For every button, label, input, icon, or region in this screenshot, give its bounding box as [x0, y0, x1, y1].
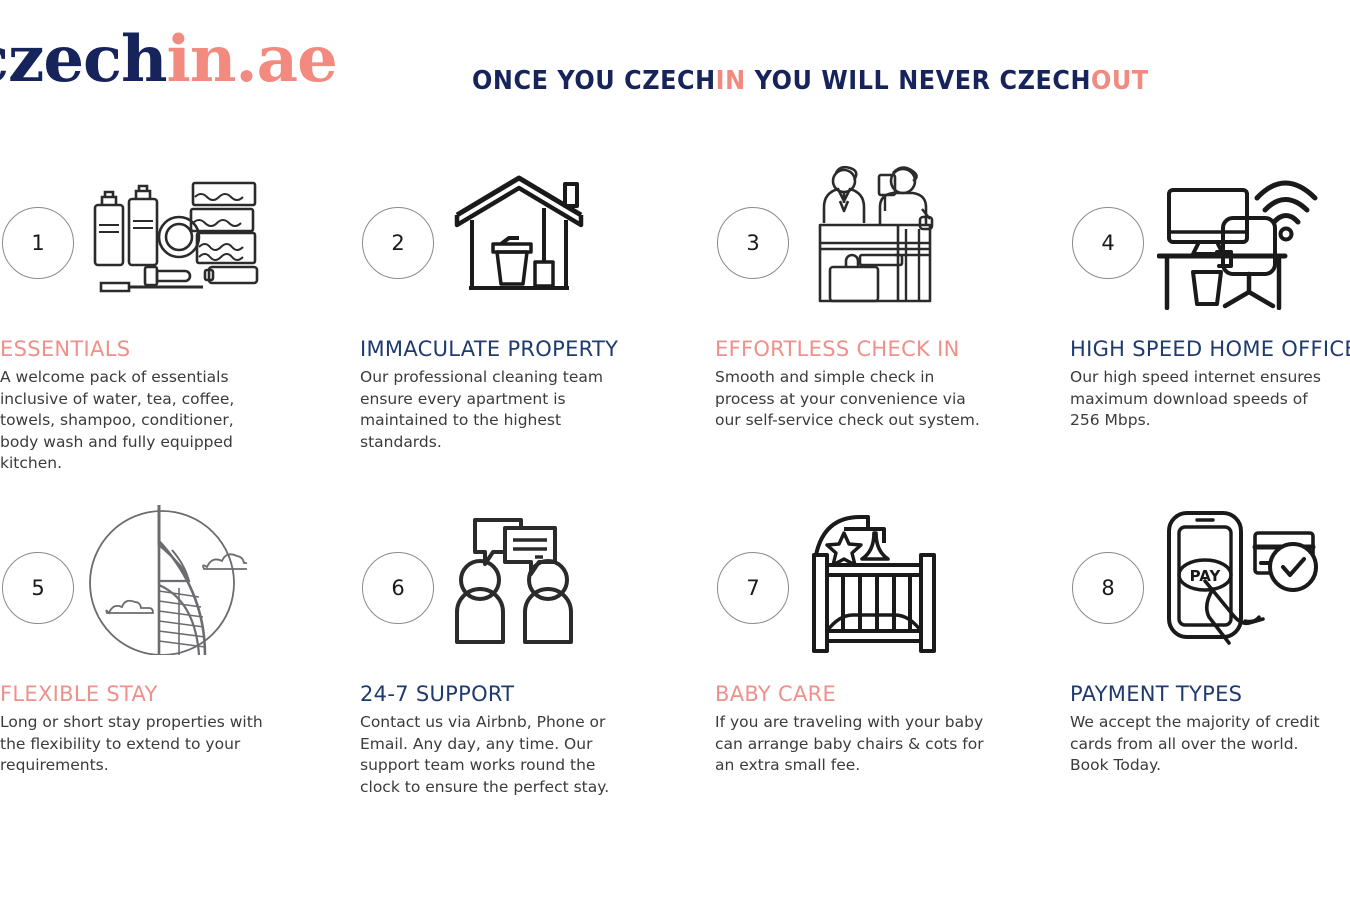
page-header: czechin.ae ONCE YOU CZECHIN YOU WILL NEV…: [0, 0, 1350, 140]
text-block: HIGH SPEED HOME OFFICE Our high speed in…: [1070, 338, 1350, 432]
feature-description: If you are traveling with your baby can …: [715, 712, 1063, 777]
icon-row: 4: [1062, 160, 1350, 310]
text-block: FLEXIBLE STAY Long or short stay propert…: [0, 683, 348, 777]
icon-row: 6: [352, 505, 707, 655]
feature-description: We accept the majority of credit cards f…: [1070, 712, 1350, 777]
tagline: ONCE YOU CZECHIN YOU WILL NEVER CZECHOUT: [472, 68, 1149, 94]
tagline-segment-2: YOU WILL NEVER CZECH: [746, 66, 1091, 96]
feature-card-baby-care: 7: [707, 505, 1062, 655]
feature-description: A welcome pack of essentials inclusive o…: [0, 367, 348, 475]
feature-title: EFFORTLESS CHECK IN: [715, 338, 1063, 361]
tagline-accent-in: IN: [716, 66, 746, 96]
step-number-badge: 5: [2, 552, 74, 624]
home-office-wifi-icon: [1157, 160, 1347, 310]
icon-row: 3: [707, 160, 1062, 310]
text-block: PAYMENT TYPES We accept the majority of …: [1070, 683, 1350, 777]
baby-crib-icon: [802, 505, 992, 655]
feature-description: Our high speed internet ensures maximum …: [1070, 367, 1350, 432]
step-number-badge: 6: [362, 552, 434, 624]
text-block: EFFORTLESS CHECK IN Smooth and simple ch…: [715, 338, 1063, 432]
feature-title: FLEXIBLE STAY: [0, 683, 348, 706]
feature-card-payment-types: 8 PAY: [1062, 505, 1350, 655]
feature-description: Long or short stay properties with the f…: [0, 712, 348, 777]
text-block: ESSENTIALS A welcome pack of essentials …: [0, 338, 348, 475]
feature-description: Contact us via Airbnb, Phone or Email. A…: [360, 712, 708, 798]
feature-card-high-speed-home-office: 4: [1062, 160, 1350, 310]
house-cleaning-icon: [447, 160, 637, 310]
tagline-segment-1: ONCE YOU CZECH: [472, 66, 716, 96]
icon-row: 8 PAY: [1062, 505, 1350, 655]
icon-row: 5: [0, 505, 347, 655]
feature-card-immaculate-property: 2: [352, 160, 707, 310]
text-block: BABY CARE If you are traveling with your…: [715, 683, 1063, 777]
feature-title: BABY CARE: [715, 683, 1063, 706]
feature-title: 24-7 SUPPORT: [360, 683, 708, 706]
feature-row-2: 5: [0, 505, 1350, 850]
icon-row: 1: [0, 160, 347, 310]
icon-row: 7: [707, 505, 1062, 655]
tagline-accent-out: OUT: [1091, 66, 1149, 96]
feature-description: Smooth and simple check in process at yo…: [715, 367, 1063, 432]
feature-title: PAYMENT TYPES: [1070, 683, 1350, 706]
brand-logo[interactable]: czechin.ae: [0, 28, 337, 92]
step-number-badge: 3: [717, 207, 789, 279]
feature-description: Our professional cleaning team ensure ev…: [360, 367, 708, 453]
text-block: 24-7 SUPPORT Contact us via Airbnb, Phon…: [360, 683, 708, 798]
toiletries-icon: [87, 160, 277, 310]
reception-checkin-icon: [802, 160, 992, 310]
icon-row: 2: [352, 160, 707, 310]
infographic-page: czechin.ae ONCE YOU CZECHIN YOU WILL NEV…: [0, 0, 1350, 900]
step-number-badge: 1: [2, 207, 74, 279]
step-number-badge: 2: [362, 207, 434, 279]
logo-text-czech: czech: [0, 22, 167, 97]
text-block: IMMACULATE PROPERTY Our professional cle…: [360, 338, 708, 453]
feature-card-effortless-check-in: 3: [707, 160, 1062, 310]
feature-row-1: 1: [0, 160, 1350, 505]
feature-grid: 1: [0, 160, 1350, 850]
feature-title: IMMACULATE PROPERTY: [360, 338, 708, 361]
feature-title: ESSENTIALS: [0, 338, 348, 361]
feature-card-24-7-support: 6: [352, 505, 707, 655]
feature-card-flexible-stay: 5: [0, 505, 347, 655]
feature-card-essentials: 1: [0, 160, 347, 310]
step-number-badge: 7: [717, 552, 789, 624]
burj-al-arab-icon: [87, 505, 277, 655]
step-number-badge: 4: [1072, 207, 1144, 279]
mobile-pay-card-icon: PAY: [1157, 505, 1347, 655]
people-chat-icon: [447, 505, 637, 655]
step-number-badge: 8: [1072, 552, 1144, 624]
feature-title: HIGH SPEED HOME OFFICE: [1070, 338, 1350, 361]
logo-text-in-ae: in.ae: [167, 22, 337, 97]
